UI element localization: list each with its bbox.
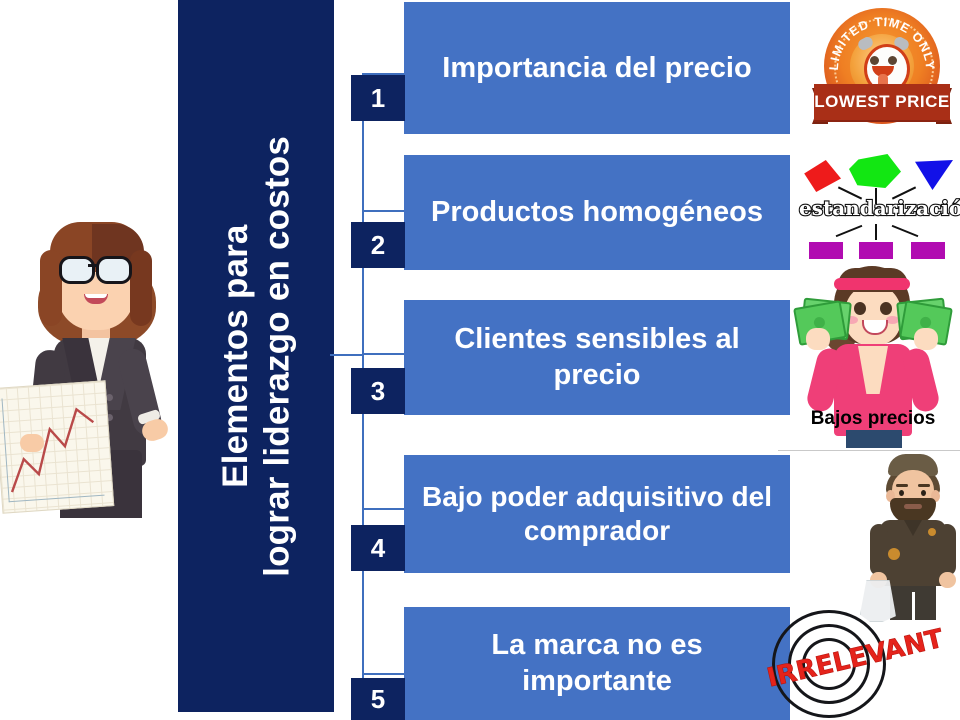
item-box-5[interactable]: La marca no es importante: [404, 607, 790, 720]
item-number-2[interactable]: 2: [351, 222, 405, 268]
page-title: Elementos para lograr liderazgo en costo…: [178, 0, 334, 712]
page-title-text: Elementos para lograr liderazgo en costo…: [215, 136, 298, 577]
badge-ribbon-label: LOWEST PRICE: [814, 84, 950, 120]
connector-branch-4: [362, 508, 408, 510]
money-woman-caption: Bajos precios: [790, 408, 956, 430]
slide-canvas: Elementos para lograr liderazgo en costo…: [0, 0, 960, 720]
item-box-1[interactable]: Importancia del precio: [404, 2, 790, 134]
standardization-word: estandarización: [799, 196, 955, 220]
poor-man-illustration: [866, 452, 960, 620]
red-shape-icon: [801, 160, 841, 192]
connector-branch-2: [362, 210, 408, 212]
businesswoman-illustration: [14, 198, 179, 518]
item-label-1: Importancia del precio: [442, 39, 751, 97]
item-number-4[interactable]: 4: [351, 525, 405, 571]
irrelevant-stamp: IRRELEVANT: [768, 608, 890, 720]
item-box-2[interactable]: Productos homogéneos: [404, 155, 790, 270]
item-label-3: Clientes sensibles al precio: [414, 322, 780, 393]
standardization-graphic: estandarización: [797, 152, 957, 268]
item-label-4: Bajo poder adquisitivo del comprador: [414, 480, 780, 548]
connector-left-stub: [330, 354, 364, 356]
money-woman-illustration: Bajos precios: [790, 262, 956, 448]
purple-square-3: [911, 242, 945, 259]
purple-square-1: [809, 242, 843, 259]
item-number-5[interactable]: 5: [351, 678, 405, 720]
blue-triangle-icon: [915, 160, 953, 190]
item-number-3[interactable]: 3: [351, 368, 405, 414]
connector-branch-5: [362, 673, 408, 675]
item-label-2: Productos homogéneos: [431, 195, 763, 230]
purple-square-2: [859, 242, 893, 259]
connector-branch-3: [362, 353, 408, 355]
item-label-5: La marca no es importante: [414, 628, 780, 699]
item-box-3[interactable]: Clientes sensibles al precio: [404, 300, 790, 415]
item-box-4[interactable]: Bajo poder adquisitivo del comprador: [404, 455, 790, 573]
item-number-1[interactable]: 1: [351, 75, 405, 121]
horizontal-divider: [778, 450, 960, 451]
lowest-price-badge: LIMITED TIME ONLY LOWEST PRICE: [812, 6, 952, 134]
green-shape-icon: [849, 154, 901, 188]
chart-prop: [0, 380, 114, 514]
